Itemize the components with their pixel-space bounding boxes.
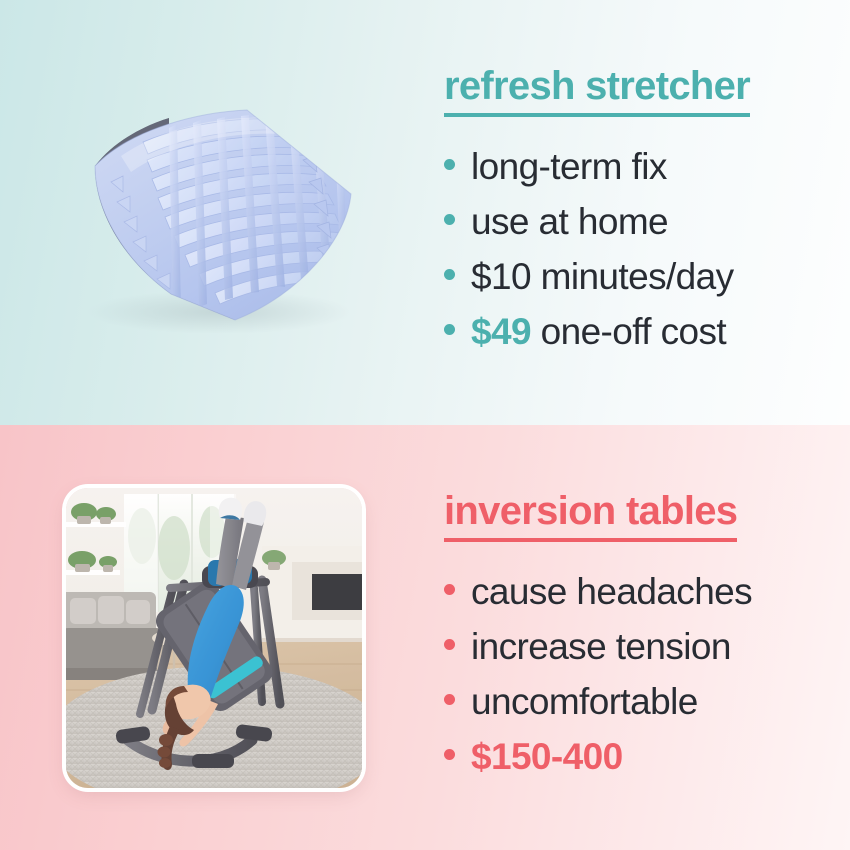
list-item: uncomfortable bbox=[444, 674, 850, 729]
section-refresh-stretcher: refresh stretcher long-term fix use at h… bbox=[0, 0, 850, 425]
list-item: increase tension bbox=[444, 619, 850, 674]
list-item-label: increase tension bbox=[471, 619, 731, 674]
product-comparison-card: refresh stretcher long-term fix use at h… bbox=[0, 0, 850, 850]
inversion-table-media bbox=[0, 425, 425, 850]
section-inversion-tables: inversion tables cause headaches increas… bbox=[0, 425, 850, 850]
list-item-label: uncomfortable bbox=[471, 674, 698, 729]
inversion-table-photo bbox=[66, 488, 362, 788]
bullet-dot-icon bbox=[444, 214, 455, 225]
back-stretcher-product-image bbox=[51, 98, 381, 333]
bullet-dot-icon bbox=[444, 269, 455, 280]
bullet-dot-icon bbox=[444, 159, 455, 170]
heading-refresh-stretcher: refresh stretcher bbox=[444, 66, 750, 117]
price-value: $49 bbox=[471, 311, 531, 352]
list-item-price: $150-400 bbox=[444, 729, 850, 784]
drawbacks-list-inversion: cause headaches increase tension uncomfo… bbox=[444, 564, 850, 785]
heading-inversion-tables: inversion tables bbox=[444, 491, 737, 542]
bullet-dot-icon bbox=[444, 639, 455, 650]
list-item: cause headaches bbox=[444, 564, 850, 619]
list-item-label: use at home bbox=[471, 194, 668, 249]
list-item-price: $49 one-off cost bbox=[444, 304, 850, 359]
stretcher-copy: refresh stretcher long-term fix use at h… bbox=[425, 0, 850, 425]
list-item: long-term fix bbox=[444, 139, 850, 194]
bullet-dot-icon bbox=[444, 749, 455, 760]
list-item-label: cause headaches bbox=[471, 564, 752, 619]
bullet-dot-icon bbox=[444, 694, 455, 705]
stretcher-media bbox=[0, 0, 425, 425]
list-item-label: $49 one-off cost bbox=[471, 304, 726, 359]
list-item-label: long-term fix bbox=[471, 139, 667, 194]
price-value: $150-400 bbox=[471, 729, 623, 784]
list-item: use at home bbox=[444, 194, 850, 249]
price-suffix: one-off cost bbox=[531, 311, 726, 352]
bullet-dot-icon bbox=[444, 584, 455, 595]
list-item-label: $10 minutes/day bbox=[471, 249, 734, 304]
bullet-dot-icon bbox=[444, 324, 455, 335]
list-item: $10 minutes/day bbox=[444, 249, 850, 304]
benefits-list-stretcher: long-term fix use at home $10 minutes/da… bbox=[444, 139, 850, 360]
inversion-table-copy: inversion tables cause headaches increas… bbox=[425, 425, 850, 850]
